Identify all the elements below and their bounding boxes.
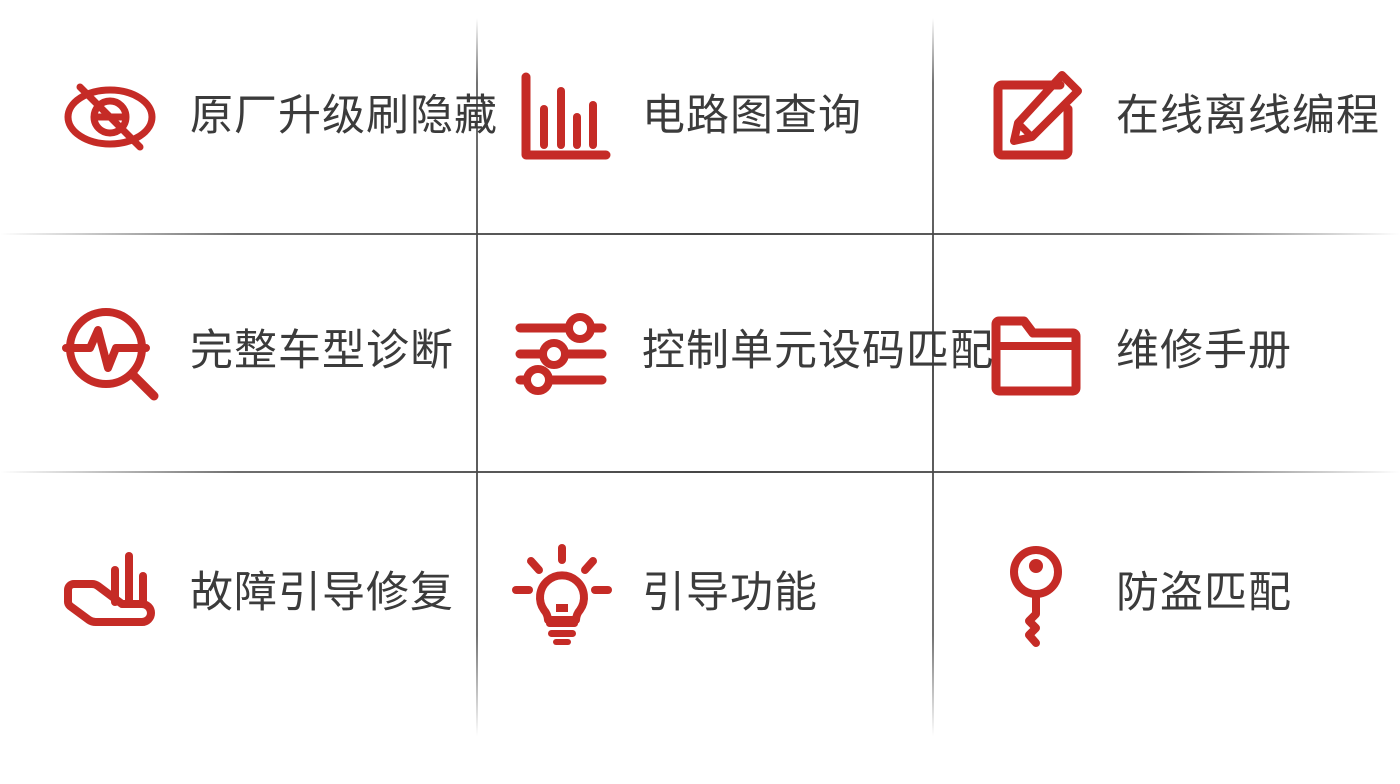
feature-item-ecu-coding-matching[interactable]: 控制单元设码匹配 [476,233,932,471]
feature-row-3: 故障引导修复 [0,471,1400,716]
lightbulb-icon [510,544,614,648]
feature-grid: 原厂升级刷隐藏 电路图查询 [0,0,1400,784]
feature-row-1: 原厂升级刷隐藏 电路图查询 [0,0,1400,233]
feature-item-label: 引导功能 [642,570,818,617]
feature-item-full-vehicle-diagnosis[interactable]: 完整车型诊断 [0,233,476,471]
feature-item-immobilizer-matching[interactable]: 防盗匹配 [932,471,1400,716]
sliders-icon [510,302,614,406]
feature-item-label: 在线离线编程 [1116,93,1380,140]
feature-item-label: 原厂升级刷隐藏 [190,93,498,140]
bar-chart-icon [510,65,614,169]
feature-item-repair-manual[interactable]: 维修手册 [932,233,1400,471]
feature-item-label: 完整车型诊断 [190,328,454,375]
feature-item-oem-upgrade-hidden[interactable]: 原厂升级刷隐藏 [0,0,476,233]
feature-item-label: 故障引导修复 [190,570,454,617]
pulse-magnifier-icon [58,302,162,406]
feature-item-circuit-diagram[interactable]: 电路图查询 [476,0,932,233]
feature-item-online-offline-programming[interactable]: 在线离线编程 [932,0,1400,233]
feature-item-label: 维修手册 [1116,328,1292,375]
hand-bars-icon [58,544,162,648]
edit-square-icon [984,65,1088,169]
feature-item-label: 电路图查询 [642,93,862,140]
feature-item-label: 防盗匹配 [1116,570,1292,617]
folder-icon [984,302,1088,406]
feature-row-2: 完整车型诊断 控制单元设码匹配 [0,233,1400,471]
feature-item-guided-fault-repair[interactable]: 故障引导修复 [0,471,476,716]
feature-item-guided-functions[interactable]: 引导功能 [476,471,932,716]
key-icon [984,544,1088,648]
eye-slash-icon [58,65,162,169]
